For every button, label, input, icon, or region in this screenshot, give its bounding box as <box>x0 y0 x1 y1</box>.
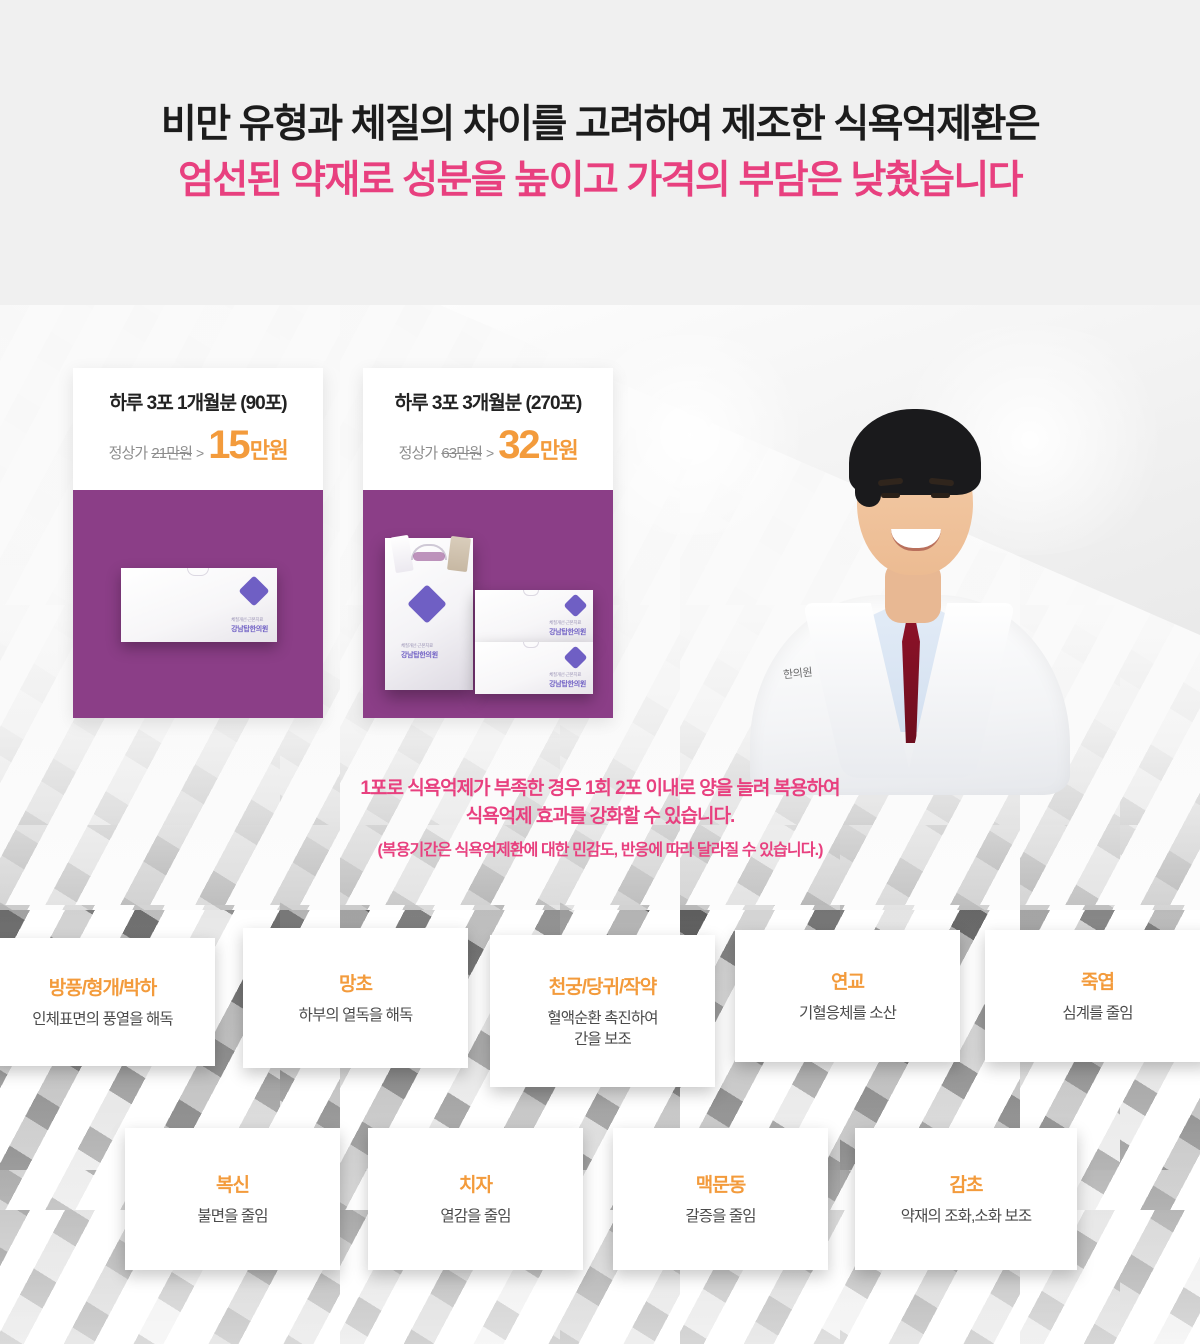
herb-description: 인체표면의 풍열을 해독 <box>32 1009 172 1030</box>
herb-card-yeongyo[interactable]: 연교 기혈응체를 소산 <box>735 930 960 1062</box>
product-photo-1-month: 체질개선·근본치료 강남탑한의원 <box>73 490 323 718</box>
doctor-eye-right <box>931 493 950 498</box>
herb-name: 연교 <box>831 967 864 994</box>
sale-price-number: 32 <box>498 427 539 463</box>
herb-description: 하부의 열독을 해독 <box>299 1005 413 1026</box>
product-gift-tote: 체질개선·근본치료 강남탑한의원 <box>385 538 473 690</box>
normal-price-value: 21만원 <box>151 442 192 463</box>
price-row: 정상가 21만원 > 15 만원 <box>83 427 313 465</box>
price-card-header: 하루 3포 1개월분 (90포) 정상가 21만원 > 15 만원 <box>73 368 323 490</box>
ingredient-section: 방풍/형개/박하 인체표면의 풍열을 해독 망초 하부의 열독을 해독 천궁/당… <box>0 910 1200 1344</box>
tote-flap-right <box>447 536 471 572</box>
product-brand-name: 강남탑한의원 <box>401 652 438 659</box>
dosage-note-parenthetical: (복용기간은 식욕억제환에 대한 민감도, 반응에 따라 달라질 수 있습니다.… <box>0 836 1200 860</box>
product-brand-sub: 체질개선·근본치료 <box>549 620 586 626</box>
herb-name: 맥문동 <box>696 1170 745 1197</box>
herb-card-maengmundong[interactable]: 맥문동 갈증을 줄임 <box>613 1128 828 1270</box>
sale-price-unit: 만원 <box>540 433 578 465</box>
herb-description: 열감을 줄임 <box>440 1206 510 1227</box>
product-brand-sub: 체질개선·근본치료 <box>549 672 586 678</box>
headline-line-2: 엄선된 약재로 성분을 높이고 가격의 부담은 낮췄습니다 <box>178 154 1022 208</box>
headline-line-1: 비만 유형과 체질의 차이를 고려하여 제조한 식욕억제환은 <box>161 98 1039 152</box>
product-brand-name: 강남탑한의원 <box>549 629 586 636</box>
dosage-note: 1포로 식욕억제가 부족한 경우 1회 2포 이내로 양을 늘려 복용하여 식욕… <box>0 775 1200 860</box>
product-box: 체질개선·근본치료 강남탑한의원 <box>121 568 277 642</box>
herb-card-bangpung[interactable]: 방풍/형개/박하 인체표면의 풍열을 해독 <box>0 938 215 1066</box>
price-arrow-icon: > <box>196 445 204 461</box>
product-brand-sub: 체질개선·근본치료 <box>401 643 438 649</box>
brand-seal-icon <box>238 575 269 606</box>
tote-flap-left <box>390 535 413 573</box>
herb-card-cheongung[interactable]: 천궁/당귀/작약 혈액순환 촉진하여 간을 보조 <box>490 935 715 1087</box>
product-brand-name: 강남탑한의원 <box>549 681 586 688</box>
herb-card-gamcho[interactable]: 감초 약재의 조화,소화 보조 <box>855 1128 1077 1270</box>
herb-card-chija[interactable]: 치자 열감을 줄임 <box>368 1128 583 1270</box>
promo-page: 비만 유형과 체질의 차이를 고려하여 제조한 식욕억제환은 엄선된 약재로 성… <box>0 0 1200 1344</box>
product-brand-name: 강남탑한의원 <box>231 626 268 633</box>
product-brand-mark: 체질개선·근본치료 강남탑한의원 <box>231 617 268 634</box>
tote-handle-slot <box>413 552 445 561</box>
herb-name: 치자 <box>459 1170 492 1197</box>
herb-description: 불면을 줄임 <box>197 1206 267 1227</box>
product-brand-mark: 체질개선·근본치료 강남탑한의원 <box>549 672 586 689</box>
price-card-1-month[interactable]: 하루 3포 1개월분 (90포) 정상가 21만원 > 15 만원 체질개선·근… <box>73 368 323 718</box>
price-card-title: 하루 3포 3개월분 (270포) <box>373 388 603 415</box>
product-brand-mark: 체질개선·근본치료 강남탑한의원 <box>401 643 438 660</box>
brand-seal-icon <box>407 584 447 624</box>
box-notch-icon <box>523 590 539 596</box>
normal-price-label: 정상가 <box>399 442 438 463</box>
herb-name: 방풍/형개/박하 <box>49 973 156 1000</box>
herb-description: 약재의 조화,소화 보조 <box>901 1206 1031 1227</box>
box-notch-icon <box>523 642 539 648</box>
dosage-line-2: 식욕억제 효과를 강화할 수 있습니다. <box>0 803 1200 831</box>
product-brand-sub: 체질개선·근본치료 <box>231 617 268 623</box>
price-row: 정상가 63만원 > 32 만원 <box>373 427 603 465</box>
herb-description: 심계를 줄임 <box>1062 1003 1132 1024</box>
price-card-3-month[interactable]: 하루 3포 3개월분 (270포) 정상가 63만원 > 32 만원 체질개선·… <box>363 368 613 718</box>
doctor-hair <box>849 409 981 495</box>
headline-band: 비만 유형과 체질의 차이를 고려하여 제조한 식욕억제환은 엄선된 약재로 성… <box>0 0 1200 305</box>
normal-price-value: 63만원 <box>441 442 482 463</box>
herb-card-boksin[interactable]: 복신 불면을 줄임 <box>125 1128 340 1270</box>
price-card-header: 하루 3포 3개월분 (270포) 정상가 63만원 > 32 만원 <box>363 368 613 490</box>
herb-name: 망초 <box>339 969 372 996</box>
doctor-coat-badge: 한의원 <box>782 664 813 683</box>
doctor-eye-left <box>881 493 900 498</box>
herb-name: 천궁/당귀/작약 <box>549 972 656 999</box>
normal-price-label: 정상가 <box>109 442 148 463</box>
herb-card-jugyeop[interactable]: 죽엽 심계를 줄임 <box>985 930 1200 1062</box>
product-box-lower: 체질개선·근본치료 강남탑한의원 <box>475 642 593 694</box>
brand-seal-icon <box>563 645 587 669</box>
product-box-upper: 체질개선·근본치료 강남탑한의원 <box>475 590 593 642</box>
price-card-title: 하루 3포 1개월분 (90포) <box>83 388 313 415</box>
brand-seal-icon <box>563 593 587 617</box>
herb-description: 기혈응체를 소산 <box>799 1003 896 1024</box>
herb-name: 복신 <box>216 1170 249 1197</box>
box-notch-icon <box>187 568 209 576</box>
sale-price-unit: 만원 <box>250 433 288 465</box>
price-arrow-icon: > <box>486 445 494 461</box>
herb-description: 혈액순환 촉진하여 간을 보조 <box>547 1008 657 1051</box>
herb-card-mangcho[interactable]: 망초 하부의 열독을 해독 <box>243 928 468 1068</box>
sale-price-number: 15 <box>208 427 249 463</box>
dosage-line-1: 1포로 식욕억제가 부족한 경우 1회 2포 이내로 양을 늘려 복용하여 <box>0 775 1200 803</box>
doctor-portrait: 한의원 <box>745 365 1075 785</box>
herb-name: 죽엽 <box>1081 967 1114 994</box>
product-brand-mark: 체질개선·근본치료 강남탑한의원 <box>549 620 586 637</box>
product-photo-3-month: 체질개선·근본치료 강남탑한의원 체질개선·근본치료 강남탑한의원 체질개선·근… <box>363 490 613 718</box>
herb-name: 감초 <box>950 1170 983 1197</box>
herb-description: 갈증을 줄임 <box>685 1206 755 1227</box>
